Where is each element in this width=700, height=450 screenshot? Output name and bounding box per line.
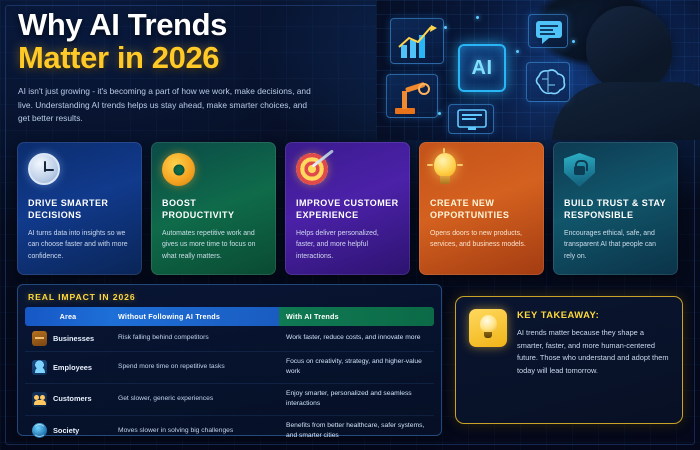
row-area-label: Employees [53, 362, 92, 373]
card-body: AI turns data into insights so we can ch… [28, 228, 131, 262]
growth-chart-icon [390, 18, 444, 64]
ai-chip-label: AI [472, 57, 493, 80]
key-takeaway-content: KEY TAKEAWAY: AI trends matter because t… [517, 309, 669, 411]
person-shoulder [552, 82, 700, 140]
person-head [586, 6, 672, 92]
table-row: Society Moves slower in solving big chal… [25, 415, 434, 446]
brain-icon [526, 62, 570, 102]
row-with-text: Work faster, reduce costs, and innovate … [279, 326, 434, 352]
row-with-text: Benefits from better healthcare, safer s… [279, 415, 434, 446]
ai-chip: AI [458, 44, 506, 92]
headline-line-2: Matter in 2026 [18, 41, 368, 76]
clock-icon [28, 153, 62, 187]
column-header-without: Without Following AI Trends [111, 307, 279, 326]
card-body: Helps deliver personalized, faster, and … [296, 228, 399, 262]
monitor-icon [448, 104, 494, 134]
table-row: Employees Spend more time on repetitive … [25, 352, 434, 384]
card-title: BOOST PRODUCTIVITY [162, 197, 265, 221]
benefit-card-improve-customer-experience[interactable]: IMPROVE CUSTOMER EXPERIENCE Helps delive… [285, 142, 410, 275]
spark-dot [438, 112, 441, 115]
infographic-poster: AI Why AI Trends Matter in 2026 AI isn't… [0, 0, 700, 450]
card-title: DRIVE SMARTER DECISIONS [28, 197, 131, 221]
real-impact-panel: REAL IMPACT IN 2026 Area Without Followi… [17, 284, 442, 436]
card-title: BUILD TRUST & STAY RESPONSIBLE [564, 197, 667, 221]
lightbulb-icon [469, 309, 507, 347]
column-header-area: Area [25, 307, 111, 326]
shield-lock-icon [564, 153, 598, 187]
briefcase-icon [32, 331, 47, 346]
impact-panel-title: REAL IMPACT IN 2026 [28, 292, 434, 302]
headline-line-1: Why AI Trends [18, 8, 368, 41]
lightbulb-icon [430, 153, 464, 187]
column-header-with: With AI Trends [279, 307, 434, 326]
row-area-label: Businesses [53, 333, 94, 344]
benefit-card-create-new-opportunities[interactable]: CREATE NEW OPPORTUNITIES Opens doors to … [419, 142, 544, 275]
benefit-card-drive-smarter-decisions[interactable]: DRIVE SMARTER DECISIONS AI turns data in… [17, 142, 142, 275]
headline-block: Why AI Trends Matter in 2026 AI isn't ju… [18, 8, 368, 126]
key-takeaway-title: KEY TAKEAWAY: [517, 309, 669, 320]
hero-image: AI [376, 0, 700, 140]
benefit-card-build-trust-stay-responsible[interactable]: BUILD TRUST & STAY RESPONSIBLE Encourage… [553, 142, 678, 275]
globe-icon [32, 423, 47, 438]
gear-icon [162, 153, 196, 187]
card-title: CREATE NEW OPPORTUNITIES [430, 197, 533, 221]
spark-dot [516, 50, 519, 53]
benefit-cards: DRIVE SMARTER DECISIONS AI turns data in… [17, 142, 678, 275]
robot-arm-icon [386, 74, 438, 118]
spark-dot [476, 16, 479, 19]
benefit-card-boost-productivity[interactable]: BOOST PRODUCTIVITY Automates repetitive … [151, 142, 276, 275]
row-with-text: Enjoy smarter, personalized and seamless… [279, 383, 434, 415]
key-takeaway-panel: KEY TAKEAWAY: AI trends matter because t… [455, 296, 683, 424]
key-takeaway-body: AI trends matter because they shape a sm… [517, 327, 669, 378]
table-row: Customers Get slower, generic experience… [25, 383, 434, 415]
person-icon [32, 360, 47, 375]
target-icon [296, 153, 330, 187]
row-area-label: Society [53, 425, 79, 436]
card-body: Automates repetitive work and gives us m… [162, 228, 265, 262]
row-without-text: Get slower, generic experiences [111, 383, 279, 415]
spark-dot [444, 26, 447, 29]
row-without-text: Moves slower in solving big challenges [111, 415, 279, 446]
table-header-row: Area Without Following AI Trends With AI… [25, 307, 434, 326]
card-title: IMPROVE CUSTOMER EXPERIENCE [296, 197, 399, 221]
card-body: Opens doors to new products, services, a… [430, 228, 533, 250]
row-area-label: Customers [53, 393, 92, 404]
impact-table: Area Without Following AI Trends With AI… [25, 307, 434, 446]
row-without-text: Spend more time on repetitive tasks [111, 352, 279, 384]
row-without-text: Risk falling behind competitors [111, 326, 279, 352]
card-body: Encourages ethical, safe, and transparen… [564, 228, 667, 262]
row-with-text: Focus on creativity, strategy, and highe… [279, 352, 434, 384]
subheadline-text: AI isn't just growing - it's becoming a … [18, 85, 318, 126]
table-row: Businesses Risk falling behind competito… [25, 326, 434, 352]
spark-dot [572, 40, 575, 43]
people-group-icon [32, 392, 47, 407]
chat-bubble-icon [528, 14, 568, 48]
